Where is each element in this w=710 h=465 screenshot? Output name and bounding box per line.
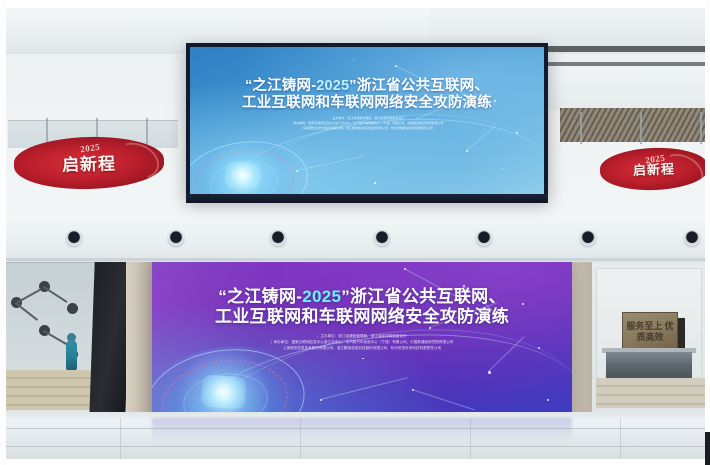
upper-screen-panel: “之江铸网-2025”浙江省公共互联网、 工业互联网和车联网网络安全攻防演练 |…	[190, 47, 544, 194]
event-venue-photo: 2025 启新程 2025 启新程	[0, 0, 710, 465]
backdrop-title-prefix: “之江铸网-	[218, 287, 302, 306]
fineprint-marker: |	[291, 121, 292, 125]
fineprint-marker: |	[330, 116, 331, 120]
railing-post	[640, 112, 642, 144]
fineprint-text: 上海观安信息技术股份有限公司、浙江鹏信信息科技股份有限公司、杭州安恒未来科技有限…	[283, 346, 441, 350]
downlight-icon	[476, 230, 492, 246]
upper-title-prefix: “之江铸网-	[245, 78, 316, 94]
downlight-icon	[66, 230, 82, 246]
fineprint-row: 上海观安信息技术股份有限公司、浙江鹏信信息科技股份有限公司、杭州安恒未来科技有限…	[190, 126, 544, 131]
railing-post	[580, 112, 582, 144]
fineprint-text: 主办单位：浙江省通信管理局、浙江省经济和信息化厅	[332, 116, 404, 120]
upper-title-suffix: ”浙江省公共互联网、	[349, 78, 489, 94]
reception-plaque-text: 服务至上 优质高效	[623, 321, 677, 344]
backdrop-title-line-2: 工业互联网和车联网网络安全攻防演练	[152, 307, 572, 327]
stage-backdrop: “之江铸网-2025”浙江省公共互联网、 工业互联网和车联网网络安全攻防演练 |…	[152, 251, 572, 423]
downlight-icon	[684, 230, 700, 246]
upper-title-line-1: “之江铸网-2025”浙江省公共互联网、	[190, 78, 544, 95]
steps-right	[596, 378, 710, 408]
screen-bezel-bottom	[186, 194, 548, 203]
backdrop-title: “之江铸网-2025”浙江省公共互联网、 工业互联网和车联网网络安全攻防演练	[152, 287, 572, 327]
mezzanine-railing-right	[560, 108, 710, 142]
upper-screen-fineprint: |主办单位：浙江省通信管理局、浙江省经济和信息化厅 |承办单位：国家互联网应急中…	[190, 116, 544, 131]
ceiling-soffit	[0, 222, 710, 262]
upper-screen-content: “之江铸网-2025”浙江省公共互联网、 工业互联网和车联网网络安全攻防演练 |…	[190, 47, 544, 194]
dark-panel-divider	[89, 262, 130, 417]
soffit-edge	[0, 258, 710, 261]
backdrop-floor-reflection	[152, 418, 572, 446]
downlight-icon	[168, 230, 184, 246]
backdrop-title-year: 2025	[302, 287, 341, 306]
letterbox-top	[0, 0, 710, 8]
reception-plaque: 服务至上 优质高效	[622, 312, 678, 352]
stone-column-left	[126, 262, 154, 422]
letterbox-bottom	[0, 459, 710, 465]
fineprint-marker: |	[317, 334, 318, 338]
fineprint-text: 上海观安信息技术股份有限公司、浙江鹏信信息科技股份有限公司、杭州安恒未来科技有限…	[301, 126, 433, 130]
banner-text-left: 启新程	[14, 148, 165, 177]
backdrop-content: “之江铸网-2025”浙江省公共互联网、 工业互联网和车联网网络安全攻防演练 |…	[152, 251, 572, 423]
fineprint-text: 承办单位：国家互联网应急中心浙江分中心、中汽研汽车检验中心（宁波）有限公司、中国…	[293, 121, 443, 125]
fineprint-text: 承办单位：国家互联网应急中心浙江分中心、中汽研汽车检验中心（宁波）有限公司、中国…	[274, 340, 454, 344]
backdrop-title-suffix: ”浙江省公共互联网、	[341, 287, 506, 306]
upper-screen-title: “之江铸网-2025”浙江省公共互联网、 工业互联网和车联网网络安全攻防演练	[190, 78, 544, 112]
downlight-icon	[374, 230, 390, 246]
backdrop-fineprint: |主办单位：浙江省通信管理局、浙江省经济和信息化厅 |承办单位：国家互联网应急中…	[152, 333, 572, 351]
backdrop-title-line-1: “之江铸网-2025”浙江省公共互联网、	[152, 287, 572, 307]
downlight-icon	[580, 230, 596, 246]
railing-post	[700, 112, 702, 144]
fineprint-marker: |	[271, 340, 272, 344]
person-figure	[66, 340, 77, 370]
fineprint-row: 上海观安信息技术股份有限公司、浙江鹏信信息科技股份有限公司、杭州安恒未来科技有限…	[152, 345, 572, 351]
letterbox-right	[705, 0, 710, 465]
ceiling-beam-secondary	[430, 8, 710, 48]
fineprint-text: 主办单位：浙江省通信管理局、浙江省经济和信息化厅	[320, 334, 406, 338]
letterbox-left	[0, 0, 6, 465]
banner-text-right: 启新程	[600, 157, 709, 180]
upper-title-year: 2025	[316, 78, 349, 94]
reception-desk	[606, 352, 692, 378]
edge-marker	[705, 432, 710, 465]
upper-led-screen: “之江铸网-2025”浙江省公共互联网、 工业互联网和车联网网络安全攻防演练 |…	[186, 43, 548, 198]
upper-title-line-2: 工业互联网和车联网网络安全攻防演练	[190, 95, 544, 112]
mezzanine-void	[540, 66, 710, 110]
downlight-icon	[270, 230, 286, 246]
